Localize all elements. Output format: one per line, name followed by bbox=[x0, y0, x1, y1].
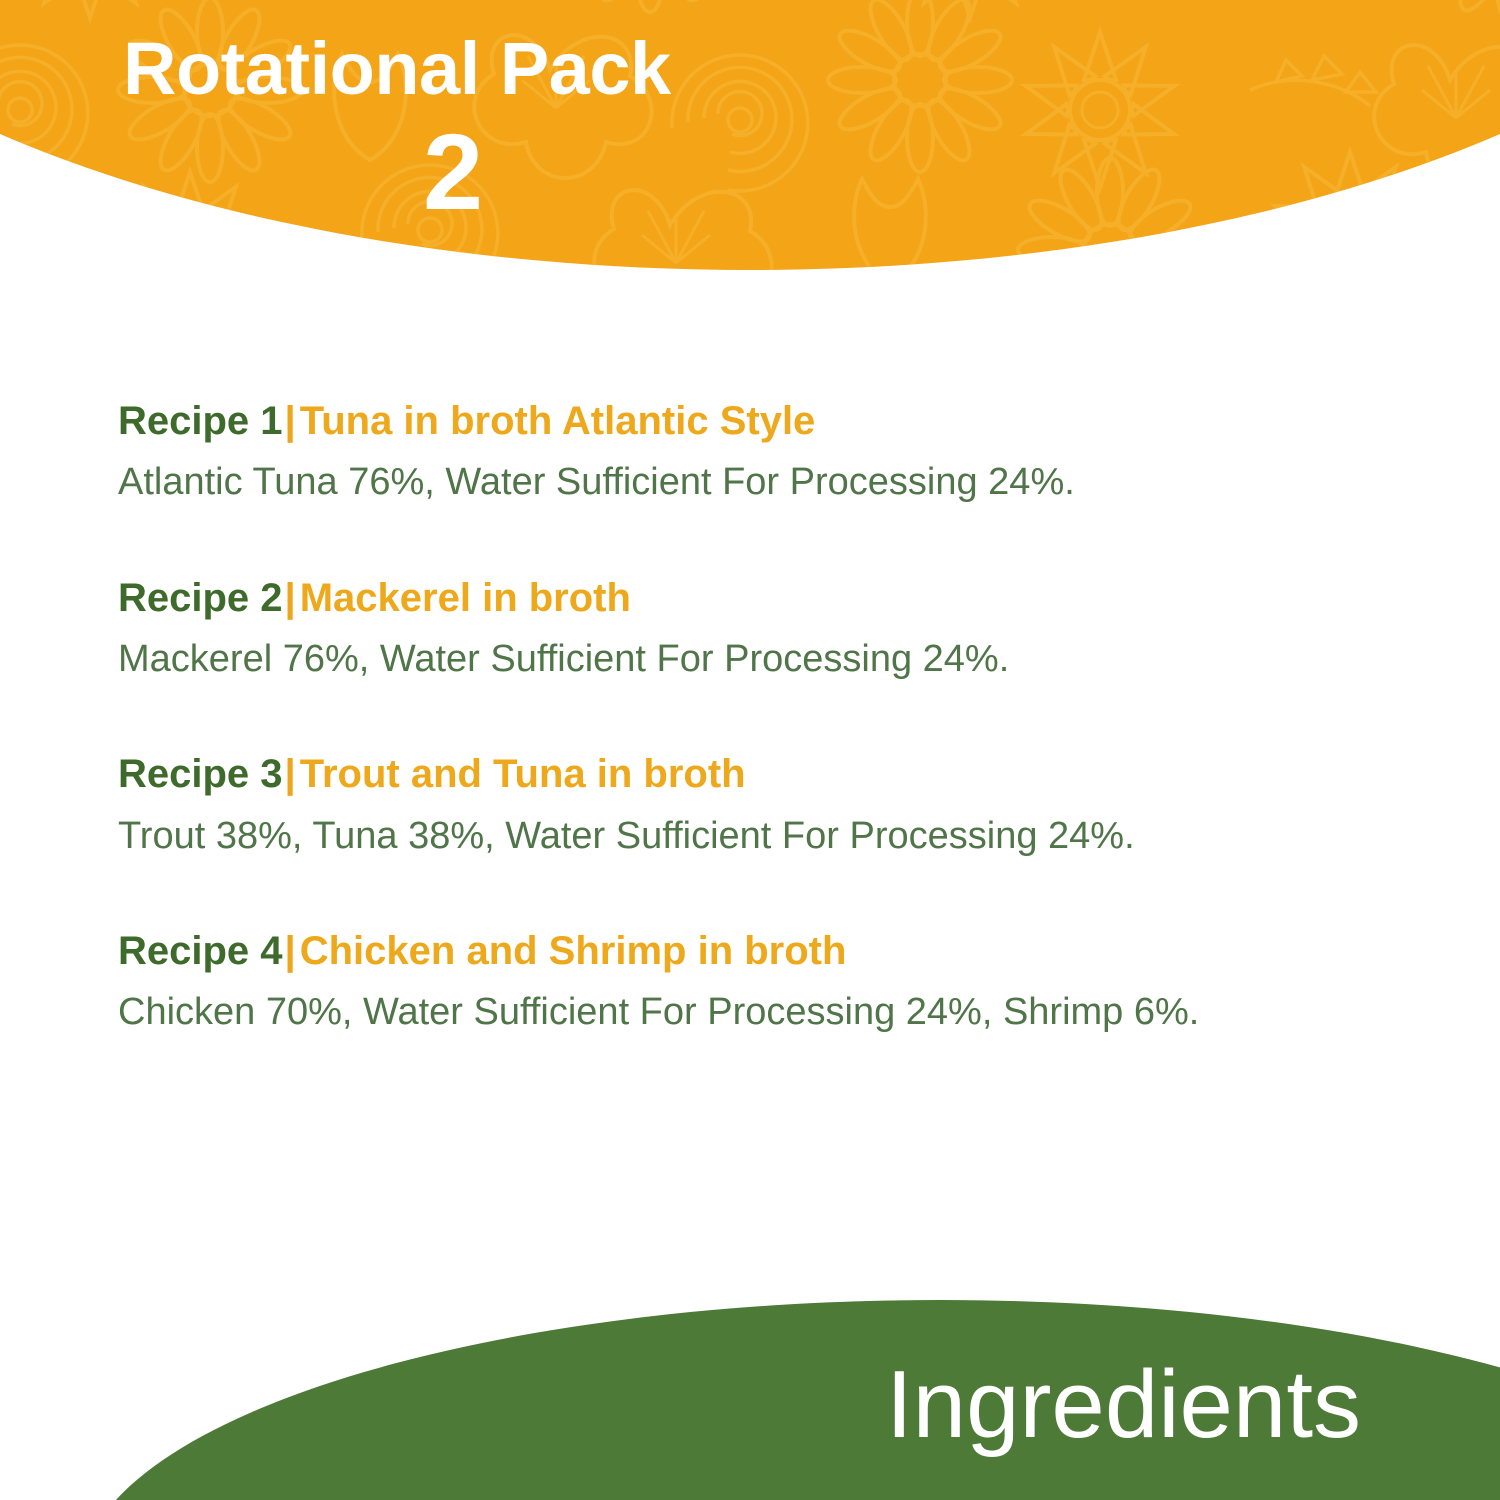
recipe-name-3: Trout and Tuna in broth bbox=[300, 752, 746, 796]
recipe-list: Recipe 1|Tuna in broth Atlantic Style At… bbox=[118, 398, 1438, 1037]
recipe-name-2: Mackerel in broth bbox=[300, 576, 631, 620]
recipe-separator-2: | bbox=[283, 576, 300, 620]
recipe-item-4: Recipe 4|Chicken and Shrimp in broth Chi… bbox=[118, 928, 1438, 1037]
recipe-item-1: Recipe 1|Tuna in broth Atlantic Style At… bbox=[118, 398, 1438, 507]
recipe-separator-4: | bbox=[283, 929, 300, 973]
recipe-separator-3: | bbox=[283, 752, 300, 796]
floral-pattern-icon bbox=[0, 0, 1500, 270]
recipe-item-2: Recipe 2|Mackerel in broth Mackerel 76%,… bbox=[118, 575, 1438, 684]
recipe-ingredients-2: Mackerel 76%, Water Sufficient For Proce… bbox=[118, 636, 1438, 684]
footer-banner bbox=[80, 1300, 1500, 1500]
recipe-label-1: Recipe 1 bbox=[118, 399, 283, 443]
recipe-heading-3: Recipe 3|Trout and Tuna in broth bbox=[118, 751, 1438, 798]
header-banner bbox=[0, 0, 1500, 270]
ingredients-infographic-page: Rotational Pack 2 Recipe 1|Tuna in broth… bbox=[0, 0, 1500, 1500]
recipe-item-3: Recipe 3|Trout and Tuna in broth Trout 3… bbox=[118, 751, 1438, 860]
recipe-ingredients-4: Chicken 70%, Water Sufficient For Proces… bbox=[118, 989, 1438, 1037]
recipe-heading-2: Recipe 2|Mackerel in broth bbox=[118, 575, 1438, 622]
recipe-ingredients-1: Atlantic Tuna 76%, Water Sufficient For … bbox=[118, 459, 1438, 507]
recipe-label-3: Recipe 3 bbox=[118, 752, 283, 796]
recipe-heading-1: Recipe 1|Tuna in broth Atlantic Style bbox=[118, 398, 1438, 445]
recipe-name-1: Tuna in broth Atlantic Style bbox=[300, 399, 816, 443]
recipe-label-4: Recipe 4 bbox=[118, 929, 283, 973]
recipe-name-4: Chicken and Shrimp in broth bbox=[300, 929, 847, 973]
recipe-ingredients-3: Trout 38%, Tuna 38%, Water Sufficient Fo… bbox=[118, 813, 1438, 861]
recipe-label-2: Recipe 2 bbox=[118, 576, 283, 620]
recipe-heading-4: Recipe 4|Chicken and Shrimp in broth bbox=[118, 928, 1438, 975]
recipe-separator-1: | bbox=[283, 399, 300, 443]
